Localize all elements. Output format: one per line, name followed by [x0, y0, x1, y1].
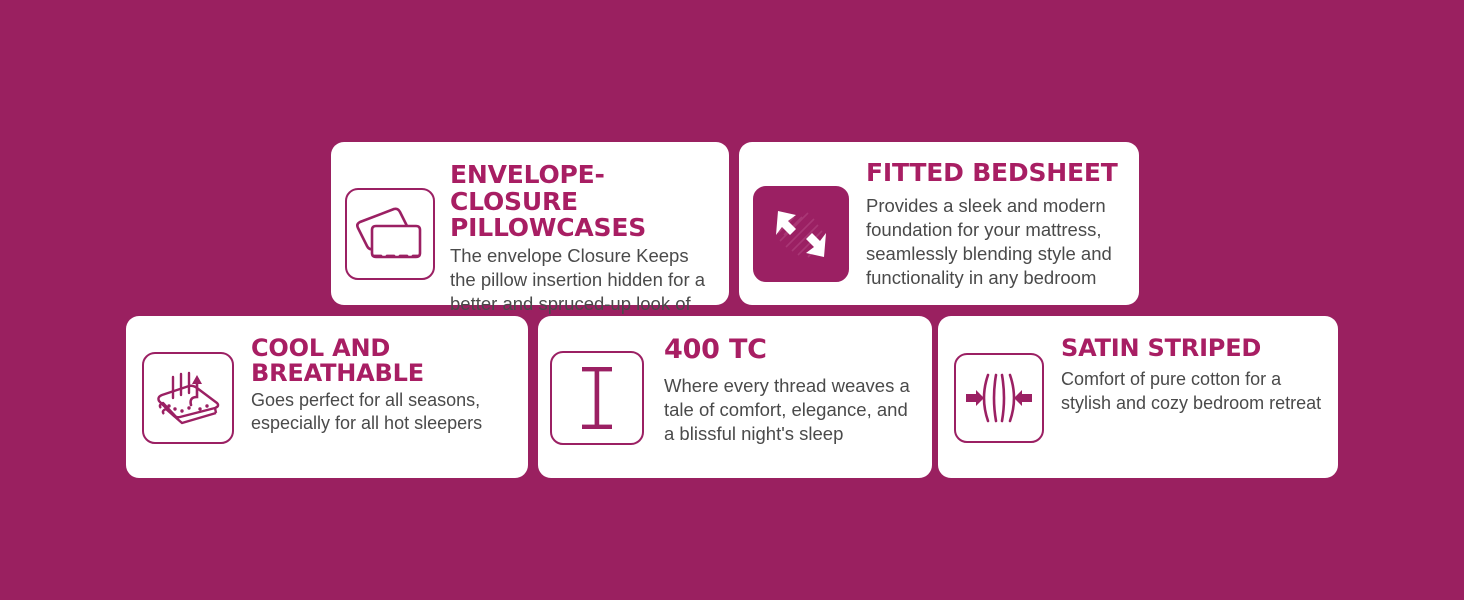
feature-headline: COOL AND BREATHABLE — [251, 336, 516, 387]
feature-body: Provides a sleek and modern foundation f… — [866, 194, 1127, 290]
thread-count-ibeam-icon — [550, 351, 644, 445]
infographic-board: ENVELOPE-CLOSURE PILLOWCASES The envelop… — [0, 0, 1464, 600]
feature-card-fitted-bedsheet: FITTED BEDSHEET Provides a sleek and mod… — [739, 142, 1139, 305]
satin-stripe-compression-icon — [954, 353, 1044, 443]
feature-text-satin-striped: SATIN STRIPED Comfort of pure cotton for… — [1061, 336, 1328, 415]
feature-text-thread-count: 400 TC Where every thread weaves a tale … — [664, 336, 920, 446]
feature-body: Comfort of pure cotton for a stylish and… — [1061, 368, 1328, 415]
feature-card-pillowcases: ENVELOPE-CLOSURE PILLOWCASES The envelop… — [331, 142, 729, 305]
feature-text-fitted-bedsheet: FITTED BEDSHEET Provides a sleek and mod… — [866, 160, 1127, 290]
feature-text-pillowcases: ENVELOPE-CLOSURE PILLOWCASES The envelop… — [450, 162, 719, 340]
feature-headline: SATIN STRIPED — [1061, 336, 1328, 361]
feature-text-breathable: COOL AND BREATHABLE Goes perfect for all… — [251, 336, 516, 436]
pillowcases-icon — [345, 188, 435, 280]
feature-headline: ENVELOPE-CLOSURE PILLOWCASES — [450, 162, 719, 242]
feature-body: Where every thread weaves a tale of comf… — [664, 374, 920, 446]
feature-card-satin-striped: SATIN STRIPED Comfort of pure cotton for… — [938, 316, 1338, 478]
feature-headline: FITTED BEDSHEET — [866, 160, 1127, 187]
fitted-sheet-corners-icon — [753, 186, 849, 282]
feature-card-breathable: COOL AND BREATHABLE Goes perfect for all… — [126, 316, 528, 478]
feature-body: Goes perfect for all seasons, especially… — [251, 389, 516, 436]
feature-card-thread-count: 400 TC Where every thread weaves a tale … — [538, 316, 932, 478]
feature-headline: 400 TC — [664, 336, 920, 365]
breathable-fabric-airflow-icon — [142, 352, 234, 444]
